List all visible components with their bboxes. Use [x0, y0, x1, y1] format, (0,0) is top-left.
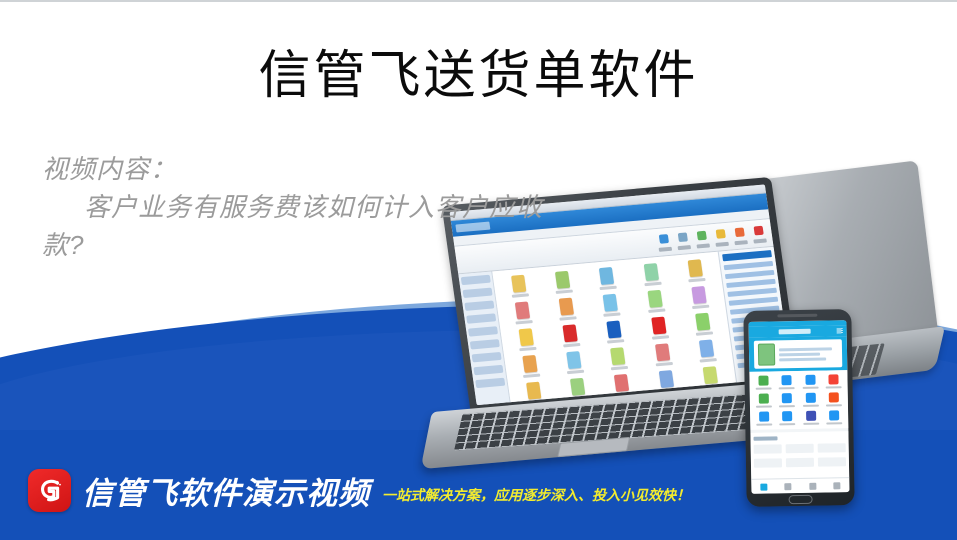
app-grid-icon: [549, 323, 593, 348]
toolbar-button: [675, 230, 691, 251]
app-grid-icon: [673, 258, 717, 283]
phone-grid-icon: [824, 410, 846, 424]
app-icon-grid-area: [492, 252, 737, 405]
app-grid-icon: [508, 354, 552, 379]
app-grid-icon: [552, 350, 596, 375]
brand-name: 信管飞软件演示视频: [82, 468, 370, 513]
phone-grid-icon: [800, 411, 822, 425]
video-content-description: 视频内容： 客户业务有服务费该如何计入客户应收 款?: [42, 150, 562, 264]
phone-promo-banner: [749, 336, 848, 372]
app-grid-icon: [497, 273, 541, 298]
toolbar-button: [656, 231, 672, 252]
phone-grid-icon: [776, 393, 798, 407]
app-grid-icon: [505, 327, 549, 352]
phone-grid-icon: [752, 375, 774, 389]
phone-grid-icon: [800, 393, 822, 407]
app-grid-icon: [501, 300, 545, 325]
phone-app-header: [749, 325, 847, 338]
video-content-question-line1: 客户业务有服务费该如何计入客户应收: [84, 192, 543, 222]
video-content-question-line2: 款?: [42, 226, 562, 264]
app-grid-icon: [541, 270, 585, 295]
phone-grid-icon: [776, 375, 798, 389]
app-grid-icon: [597, 346, 641, 371]
toolbar-button: [751, 223, 767, 244]
app-grid-icon: [589, 292, 633, 317]
phone-earpiece: [777, 314, 817, 318]
bottom-brand-banner: 信管飞软件演示视频 一站式解决方案，应用逐步深入、投入小见效快！: [0, 440, 957, 540]
toolbar-button: [732, 225, 748, 246]
app-grid-icon: [681, 311, 725, 336]
toolbar-button: [713, 226, 729, 247]
phone-promo-card: [754, 339, 842, 369]
phone-icon-grid: [749, 370, 848, 430]
page-title: 信管飞送货单软件: [0, 46, 957, 108]
phone-grid-icon: [753, 393, 775, 407]
app-grid-icon: [629, 262, 673, 287]
phone-grid-icon: [753, 411, 775, 425]
phone-grid-icon: [823, 392, 845, 406]
app-grid-icon: [677, 285, 721, 310]
app-grid-icon: [593, 319, 637, 344]
video-content-label: 视频内容：: [42, 150, 562, 188]
app-grid-icon: [641, 342, 685, 367]
app-grid-icon: [633, 289, 677, 314]
app-grid-icon: [637, 315, 681, 340]
video-content-question: 客户业务有服务费该如何计入客户应收: [42, 188, 562, 226]
app-icon-grid: [497, 258, 733, 405]
phone-illustration-icon: [758, 343, 775, 365]
phone-grid-icon: [823, 374, 845, 388]
brand-tagline: 一站式解决方案，应用逐步深入、投入小见效快！: [382, 485, 690, 505]
app-grid-icon: [585, 266, 629, 291]
phone-grid-icon: [777, 411, 799, 425]
xinguanfei-logo-icon: [28, 469, 71, 512]
phone-grid-icon: [799, 375, 821, 389]
toolbar-button: [694, 228, 710, 249]
app-body: [458, 247, 792, 405]
app-grid-icon: [545, 296, 589, 321]
presentation-slide: 信管飞送货单软件 视频内容： 客户业务有服务费该如何计入客户应收 款? 信管飞软…: [0, 0, 957, 540]
app-grid-icon: [685, 338, 729, 363]
